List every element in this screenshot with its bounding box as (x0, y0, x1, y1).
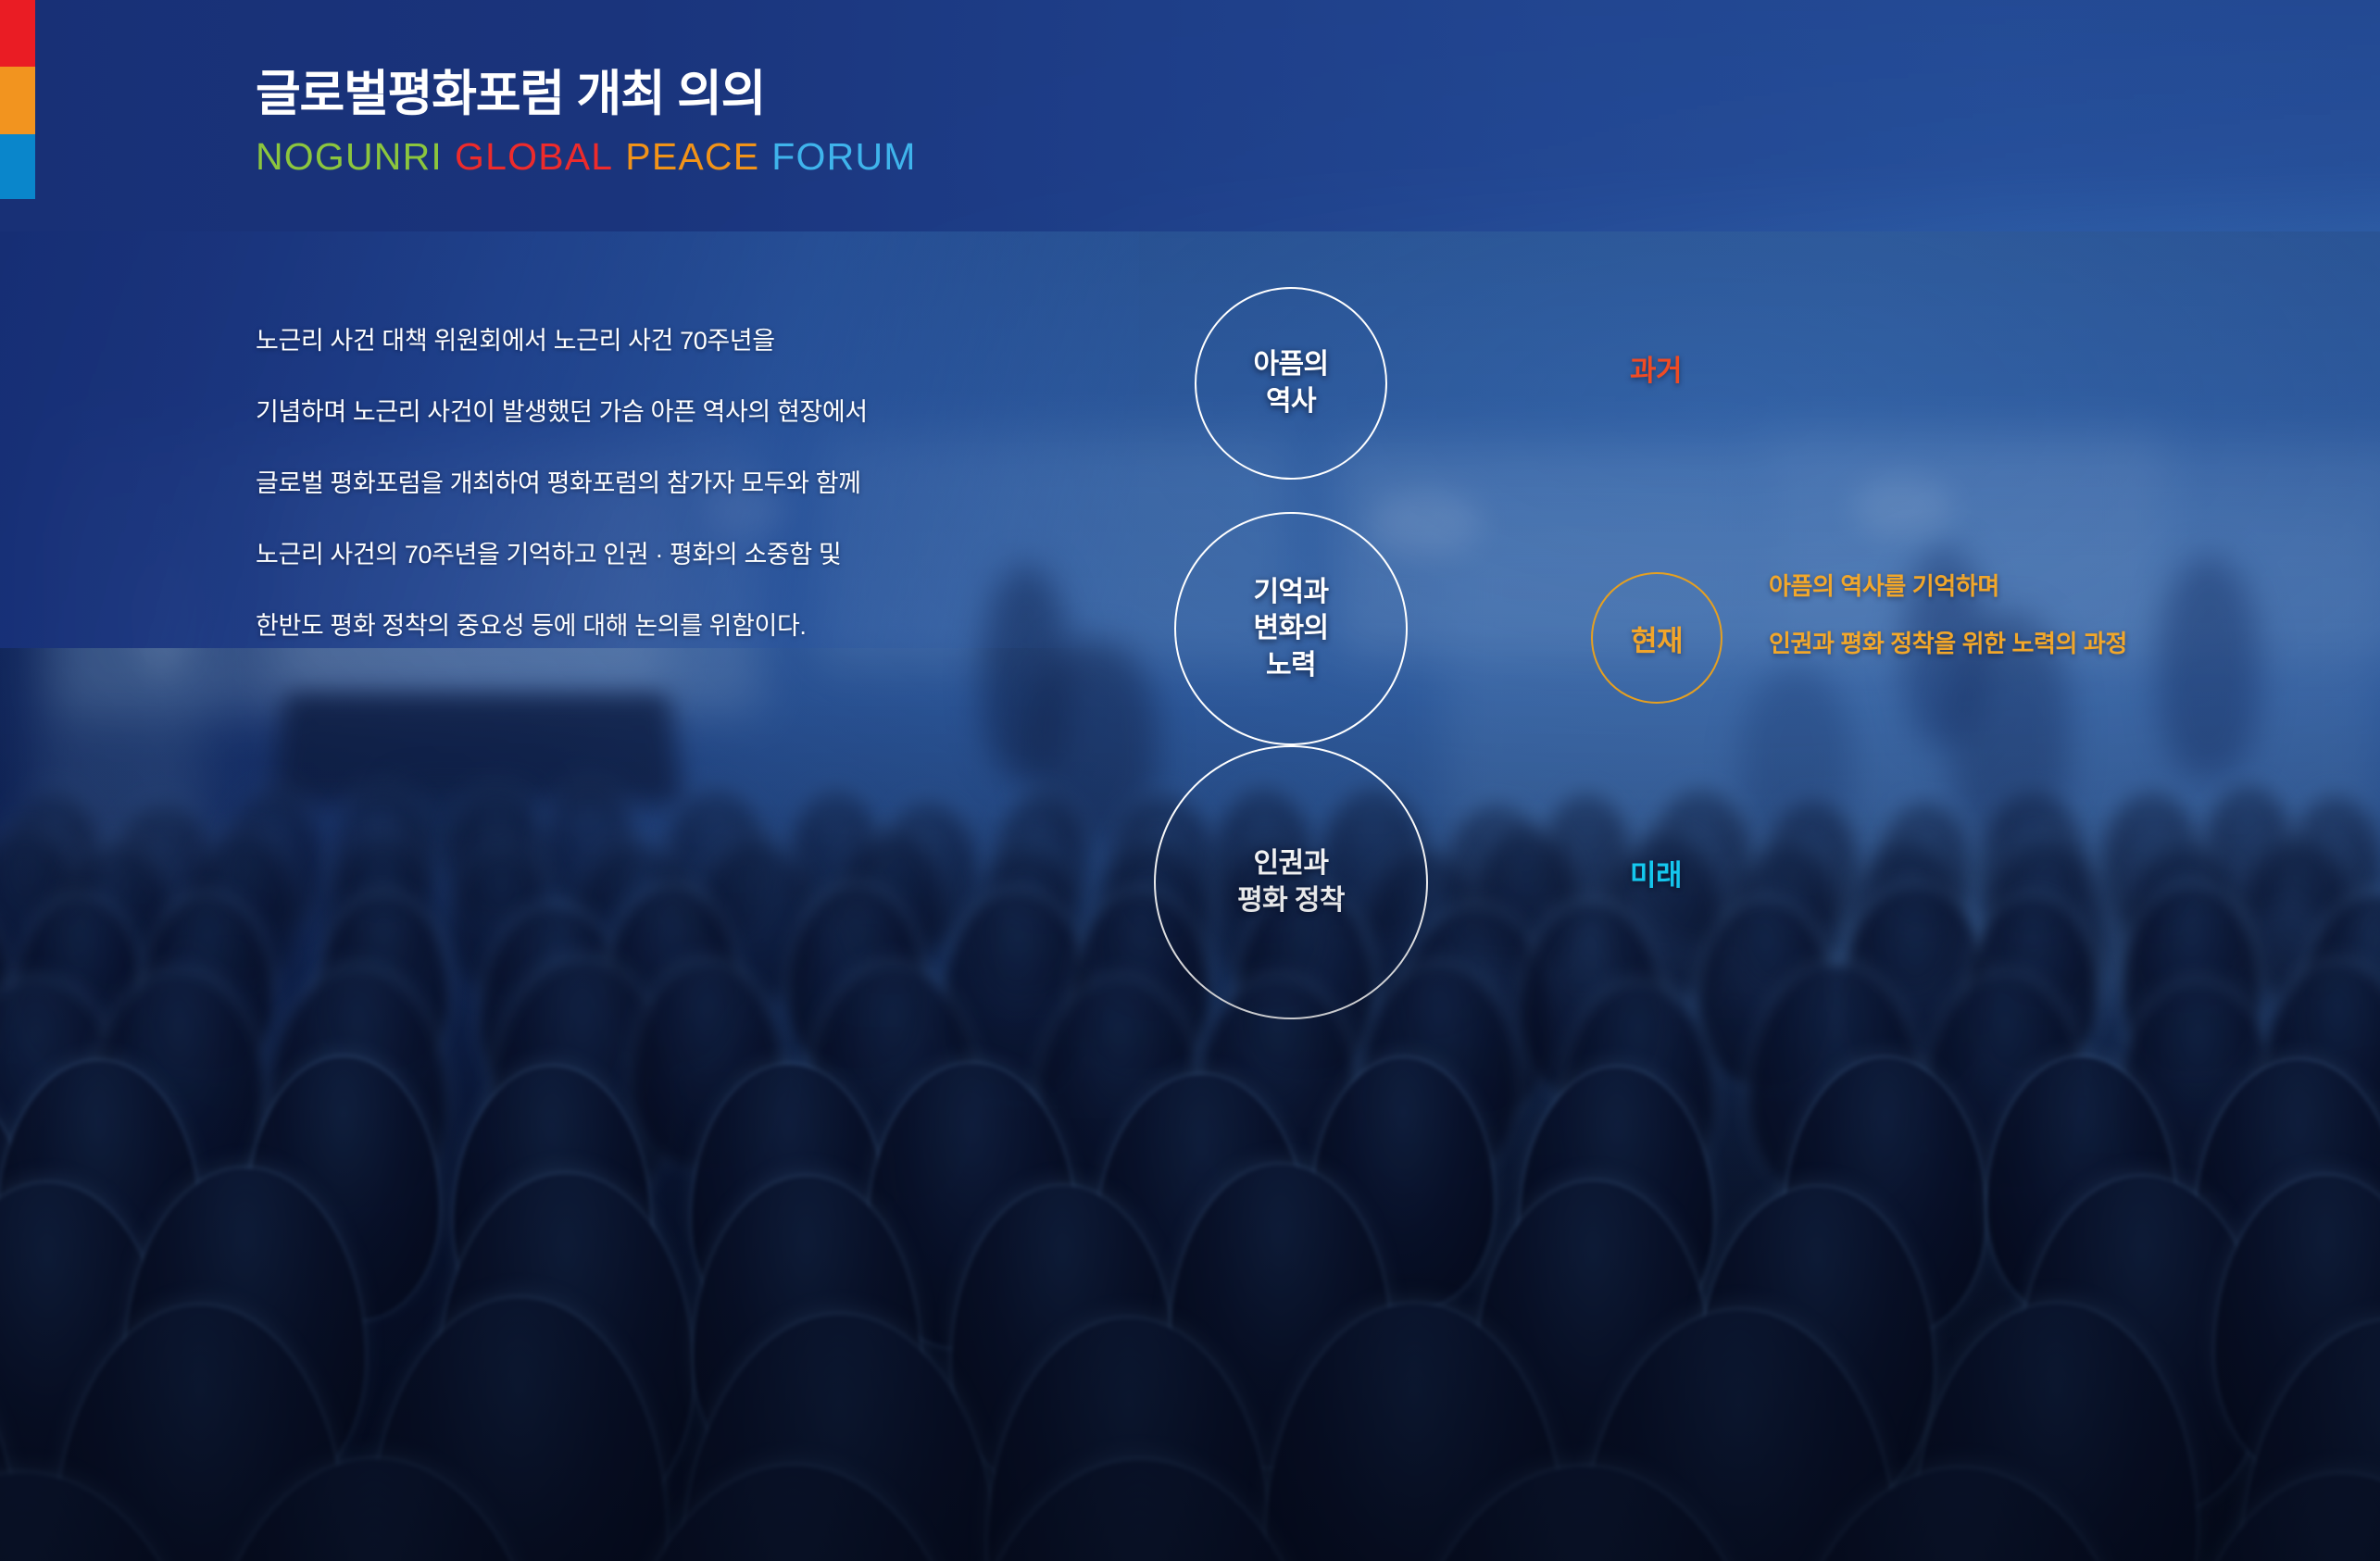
description-line: 노근리 사건 대책 위원회에서 노근리 사건 70주년을 (256, 329, 1200, 354)
timeline-marker-present-ring: 현재 (1591, 572, 1722, 704)
colorbar-segment-red (0, 0, 35, 67)
slide-header: 글로벌평화포럼 개최 의의 NOGUNRIGLOBALPEACEFORUM (256, 67, 917, 176)
crowd-shadow-veil (0, 802, 2380, 1561)
colorbar-segment-orange (0, 67, 35, 134)
circle-memory-change-effort: 기억과 변화의 노력 (1174, 512, 1408, 745)
description-line: 글로벌 평화포럼을 개최하여 평화포럼의 참가자 모두와 함께 (256, 471, 1200, 496)
description-line: 한반도 평화 정착의 중요성 등에 대해 논의를 위함이다. (256, 614, 1200, 639)
brand-colorbar (0, 0, 35, 199)
description-line: 기념하며 노근리 사건이 발생했던 가슴 아픈 역사의 현장에서 (256, 400, 1200, 425)
timeline-present-description: 아픔의 역사를 기억하며인권과 평화 정착을 위한 노력의 과정 (1769, 574, 2127, 656)
subtitle-word-forum: FORUM (771, 135, 916, 178)
description-line: 노근리 사건의 70주년을 기억하고 인권 · 평화의 소중함 및 (256, 543, 1200, 568)
timeline-marker-past: 과거 (1630, 347, 1682, 389)
colorbar-segment-blue (0, 134, 35, 199)
timeline-marker-present-label: 현재 (1631, 618, 1683, 659)
circle-past-history: 아픔의 역사 (1195, 287, 1387, 480)
page-subtitle: NOGUNRIGLOBALPEACEFORUM (256, 138, 917, 176)
page-title: 글로벌평화포럼 개최 의의 (256, 67, 917, 123)
description-paragraph: 노근리 사건 대책 위원회에서 노근리 사건 70주년을기념하며 노근리 사건이… (256, 329, 1200, 639)
circle-past-history-label: 아픔의 역사 (1254, 346, 1329, 419)
subtitle-word-peace: PEACE (625, 135, 759, 178)
circle-memory-change-effort-label: 기억과 변화의 노력 (1254, 574, 1329, 684)
present-description-line: 인권과 평화 정착을 위한 노력의 과정 (1769, 631, 2127, 656)
subtitle-word-global: GLOBAL (455, 135, 613, 178)
subtitle-word-nogunri: NOGUNRI (256, 135, 443, 178)
slide-canvas: 글로벌평화포럼 개최 의의 NOGUNRIGLOBALPEACEFORUM 노근… (0, 0, 2380, 1561)
audience-crowd (0, 802, 2380, 1561)
present-description-line: 아픔의 역사를 기억하며 (1769, 574, 2127, 598)
